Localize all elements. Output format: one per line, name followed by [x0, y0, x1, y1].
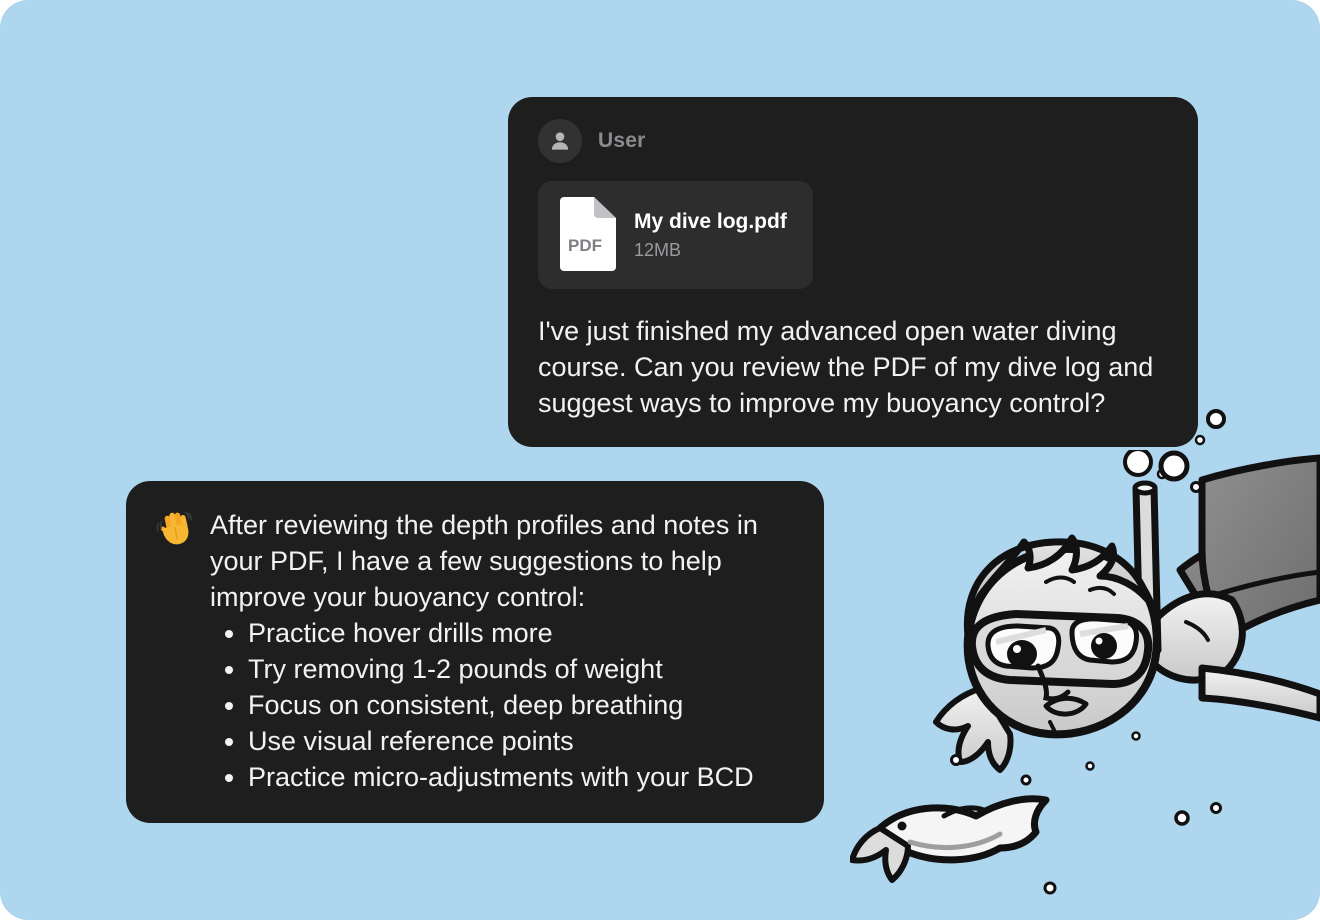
list-item: Use visual reference points — [248, 723, 794, 759]
list-item: Practice hover drills more — [248, 615, 794, 651]
svg-text:PDF: PDF — [568, 236, 602, 255]
list-item: Focus on consistent, deep breathing — [248, 687, 794, 723]
pdf-file-size: 12MB — [634, 240, 787, 261]
snorkeler-underwater-illustration — [850, 450, 1320, 920]
pdf-attachment-card[interactable]: PDF My dive log.pdf 12MB — [538, 181, 813, 289]
user-message-bubble: User PDF My dive log.pdf 12MB I've just … — [508, 97, 1198, 447]
pdf-file-name: My dive log.pdf — [634, 210, 787, 234]
user-name-label: User — [598, 129, 646, 153]
assistant-message-bubble: After reviewing the depth profiles and n… — [126, 481, 824, 823]
assistant-intro-text: After reviewing the depth profiles and n… — [210, 507, 794, 615]
list-item: Practice micro-adjustments with your BCD — [248, 759, 794, 795]
page-root: User PDF My dive log.pdf 12MB I've just … — [0, 0, 1320, 920]
list-item: Try removing 1-2 pounds of weight — [248, 651, 794, 687]
assistant-message-text: After reviewing the depth profiles and n… — [210, 507, 794, 795]
pdf-file-icon: PDF — [554, 197, 616, 273]
suggestions-list: Practice hover drills more Try removing … — [210, 615, 794, 795]
pdf-file-meta: My dive log.pdf 12MB — [634, 210, 787, 261]
person-avatar-icon — [538, 119, 582, 163]
fish — [852, 799, 1046, 880]
user-header: User — [538, 119, 1168, 163]
waving-hand-icon — [154, 509, 194, 549]
user-message-text: I've just finished my advanced open wate… — [538, 313, 1168, 421]
